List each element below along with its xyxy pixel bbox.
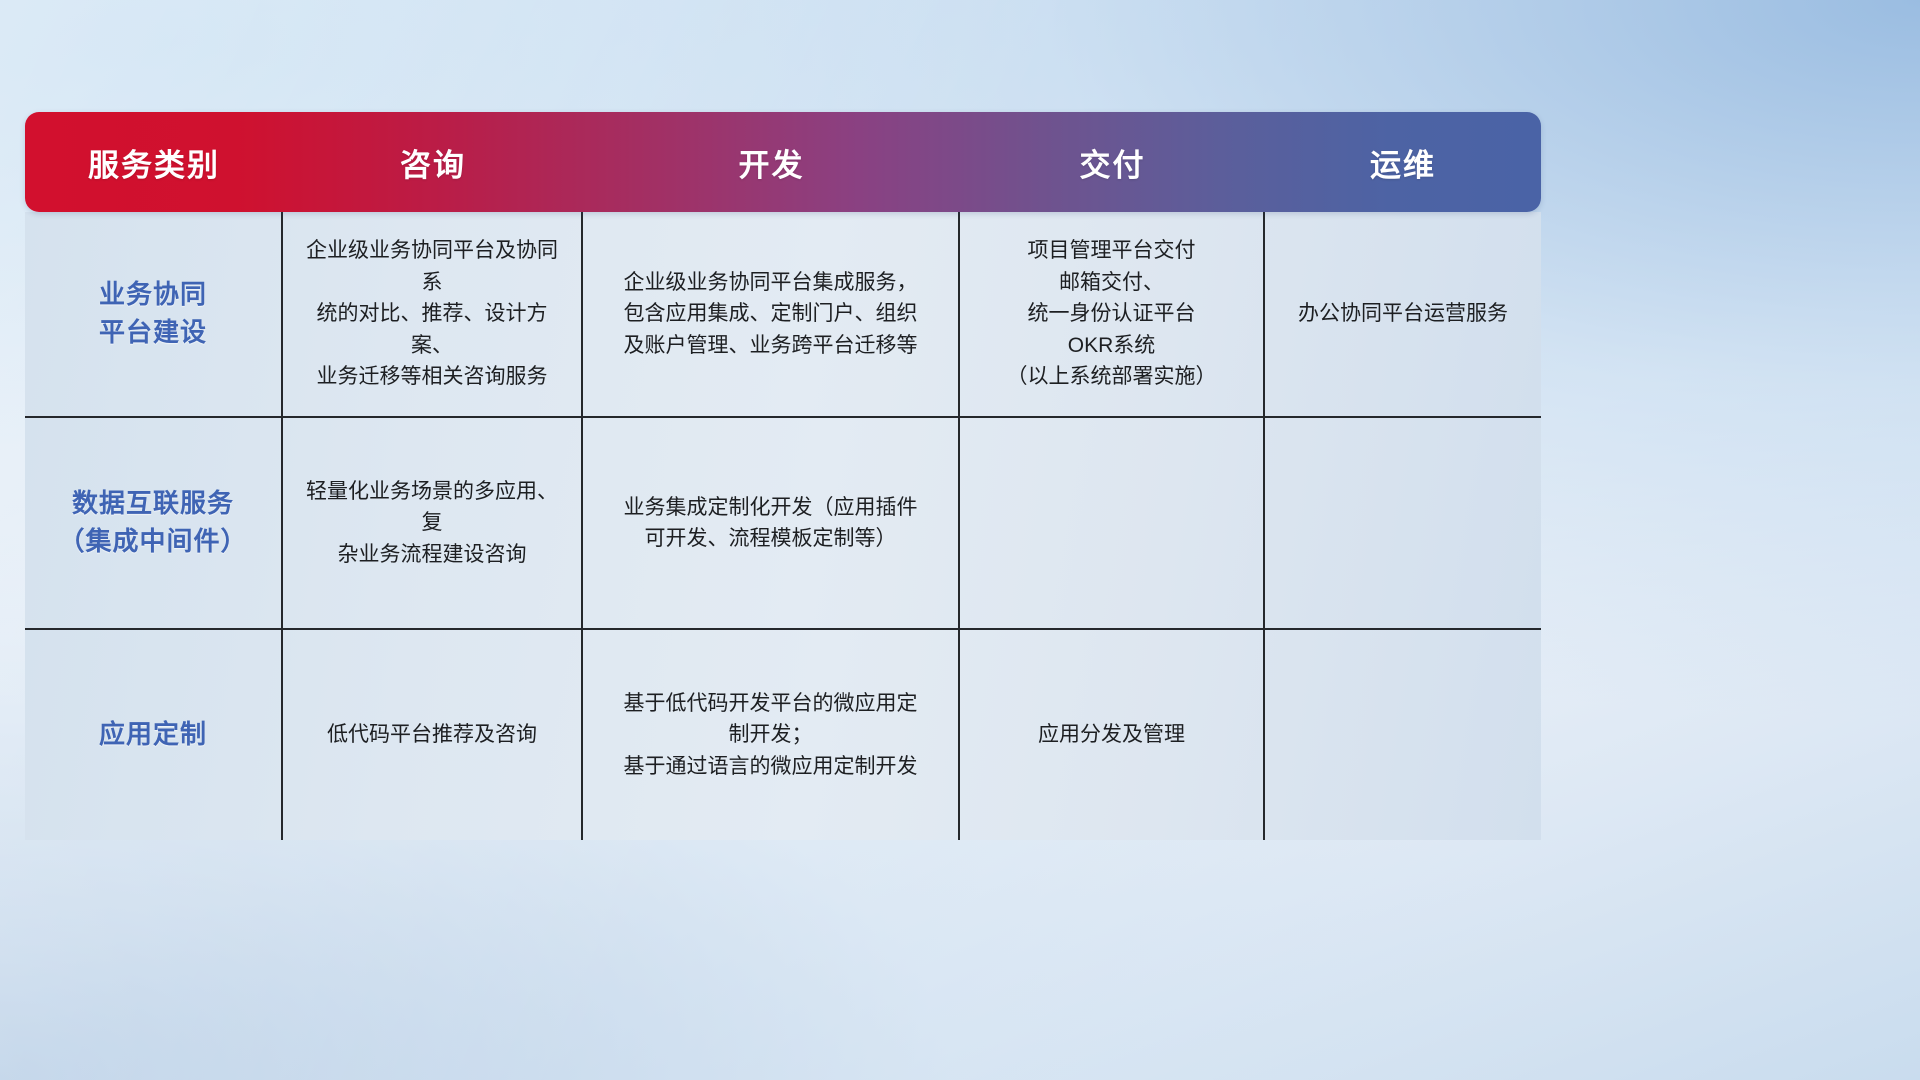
row-category-label: 应用定制 [25, 630, 283, 840]
cell-consulting: 轻量化业务场景的多应用、复 杂业务流程建设咨询 [283, 418, 583, 628]
service-matrix-table: 服务类别 咨询 开发 交付 运维 业务协同 平台建设 企业级业务协同平台及协同系… [25, 112, 1541, 840]
table-row: 业务协同 平台建设 企业级业务协同平台及协同系 统的对比、推荐、设计方案、 业务… [25, 212, 1541, 418]
column-header-consulting: 咨询 [283, 112, 583, 212]
table-row: 数据互联服务 （集成中间件） 轻量化业务场景的多应用、复 杂业务流程建设咨询 业… [25, 418, 1541, 630]
table-row: 应用定制 低代码平台推荐及咨询 基于低代码开发平台的微应用定 制开发； 基于通过… [25, 630, 1541, 840]
column-header-category: 服务类别 [25, 112, 283, 212]
row-category-label: 业务协同 平台建设 [25, 212, 283, 416]
cell-consulting: 低代码平台推荐及咨询 [283, 630, 583, 840]
cell-operations [1265, 418, 1541, 628]
cell-delivery: 项目管理平台交付 邮箱交付、 统一身份认证平台 OKR系统 （以上系统部署实施） [960, 212, 1265, 416]
cell-delivery [960, 418, 1265, 628]
cell-development: 企业级业务协同平台集成服务， 包含应用集成、定制门户、组织 及账户管理、业务跨平… [583, 212, 960, 416]
column-header-delivery: 交付 [960, 112, 1265, 212]
cell-delivery: 应用分发及管理 [960, 630, 1265, 840]
table-header-row: 服务类别 咨询 开发 交付 运维 [25, 112, 1541, 212]
column-header-development: 开发 [583, 112, 960, 212]
table-body: 业务协同 平台建设 企业级业务协同平台及协同系 统的对比、推荐、设计方案、 业务… [25, 212, 1541, 840]
cell-development: 业务集成定制化开发（应用插件 可开发、流程模板定制等） [583, 418, 960, 628]
column-header-operations: 运维 [1265, 112, 1541, 212]
cell-development: 基于低代码开发平台的微应用定 制开发； 基于通过语言的微应用定制开发 [583, 630, 960, 840]
cell-operations: 办公协同平台运营服务 [1265, 212, 1541, 416]
cell-consulting: 企业级业务协同平台及协同系 统的对比、推荐、设计方案、 业务迁移等相关咨询服务 [283, 212, 583, 416]
row-category-label: 数据互联服务 （集成中间件） [25, 418, 283, 628]
cell-operations [1265, 630, 1541, 840]
